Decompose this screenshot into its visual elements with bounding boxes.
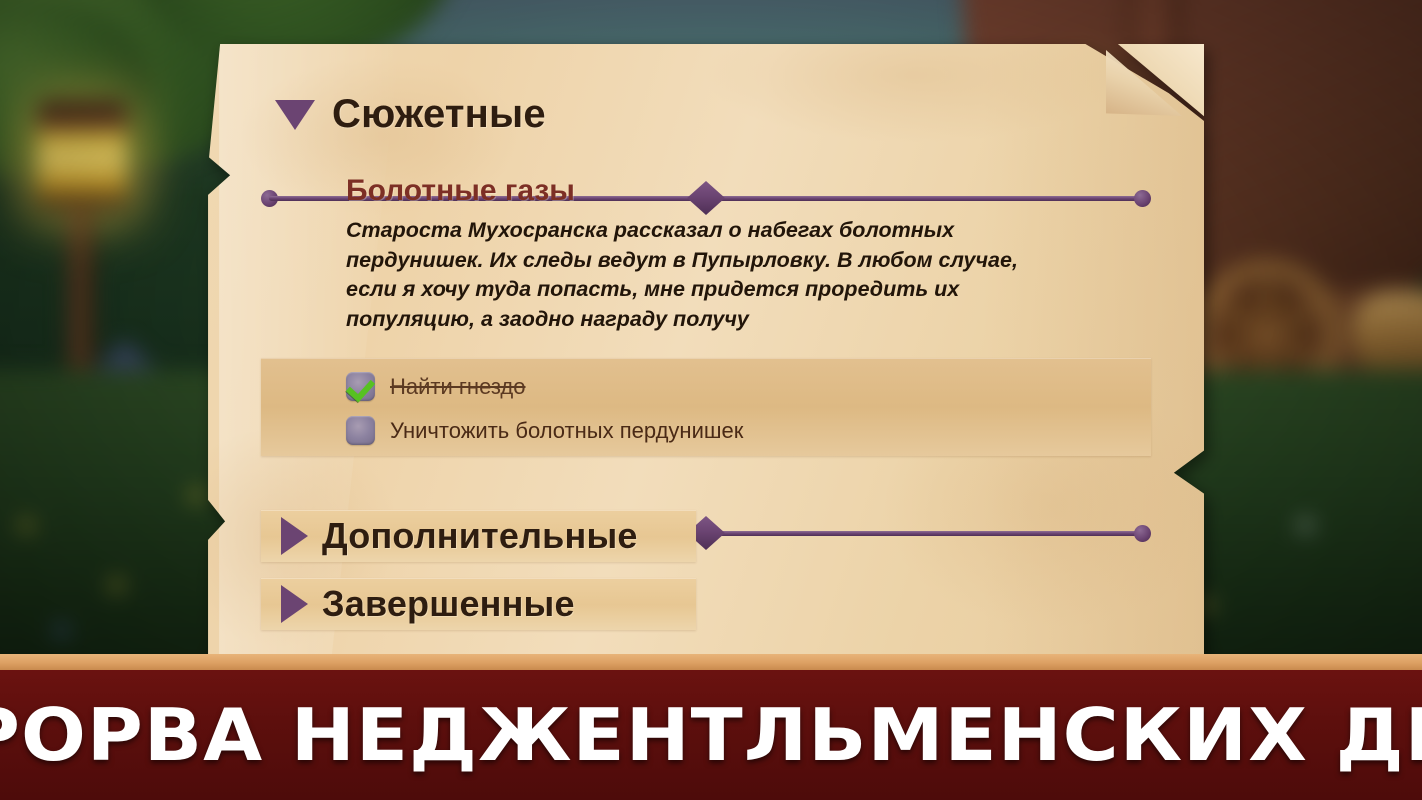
game-screen: Сюжетные Болотные газы Староста Мухосран…	[0, 0, 1422, 800]
divider-dot-right	[1134, 190, 1151, 207]
banner-title: ПРОРВА НЕДЖЕНТЛЬМЕНСКИХ ДЕЛ	[0, 693, 1422, 777]
empty-checkbox-icon[interactable]	[346, 416, 375, 445]
section-header-completed[interactable]: Завершенные	[261, 578, 696, 630]
section-header-additional[interactable]: Дополнительные	[261, 510, 696, 562]
section-header-story[interactable]: Сюжетные	[275, 92, 546, 137]
triangle-down-icon[interactable]	[275, 100, 315, 130]
section-label-additional: Дополнительные	[322, 515, 638, 557]
quest-description: Староста Мухосранска рассказал о набегах…	[346, 216, 1051, 334]
quest-title: Болотные газы	[346, 174, 575, 208]
triangle-right-icon[interactable]	[281, 585, 308, 623]
quest-log-content: Сюжетные Болотные газы Староста Мухосран…	[199, 44, 1204, 660]
objective-row[interactable]: Уничтожить болотных пердунишек	[346, 416, 743, 445]
objective-row[interactable]: Найти гнездо	[346, 372, 526, 401]
section-label-completed: Завершенные	[322, 583, 575, 625]
divider-dot-right	[1134, 525, 1151, 542]
objectives-panel: Найти гнездо Уничтожить болотных пердуни…	[261, 358, 1151, 456]
banner-top-strip	[0, 654, 1422, 670]
triangle-right-icon[interactable]	[281, 517, 308, 555]
section-label-story: Сюжетные	[332, 92, 546, 137]
check-icon[interactable]	[346, 372, 375, 401]
bottom-banner: ПРОРВА НЕДЖЕНТЛЬМЕНСКИХ ДЕЛ	[0, 670, 1422, 800]
objective-label: Уничтожить болотных пердунишек	[390, 418, 743, 444]
objective-label: Найти гнездо	[390, 374, 526, 400]
divider-diamond-icon	[687, 181, 725, 215]
